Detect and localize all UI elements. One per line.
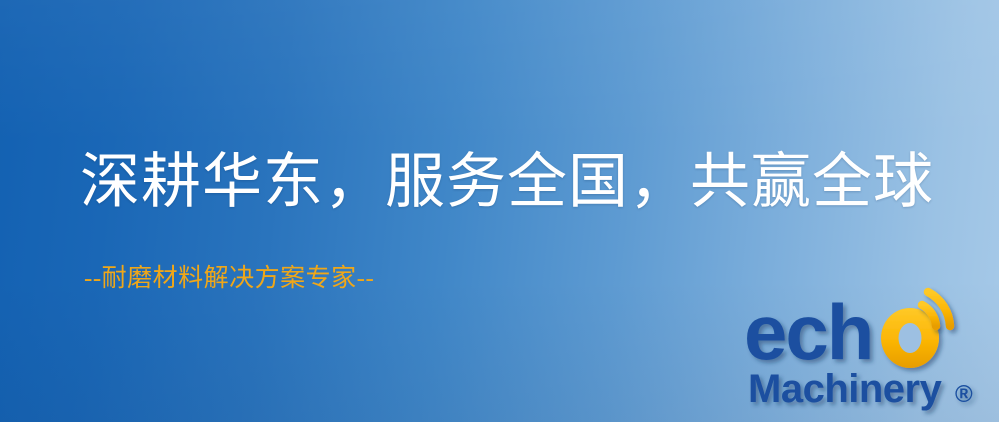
logo-echo-letters-group: ech (744, 288, 872, 376)
logo-letter-ech: ech (744, 288, 872, 376)
hero-banner: 深耕华东，服务全国，共赢全球 --耐磨材料解决方案专家-- (0, 0, 999, 422)
page-subtitle: --耐磨材料解决方案专家-- (84, 266, 374, 291)
logo-o-counter (899, 323, 922, 353)
page-title: 深耕华东，服务全国，共赢全球 (80, 152, 934, 212)
logo-tagline-group: Machinery ® (748, 367, 973, 411)
logo-registered-mark: ® (955, 381, 973, 408)
echo-machinery-logo[interactable]: ech Machinery ® (744, 296, 994, 420)
logo-tagline-text: Machinery (748, 367, 943, 411)
